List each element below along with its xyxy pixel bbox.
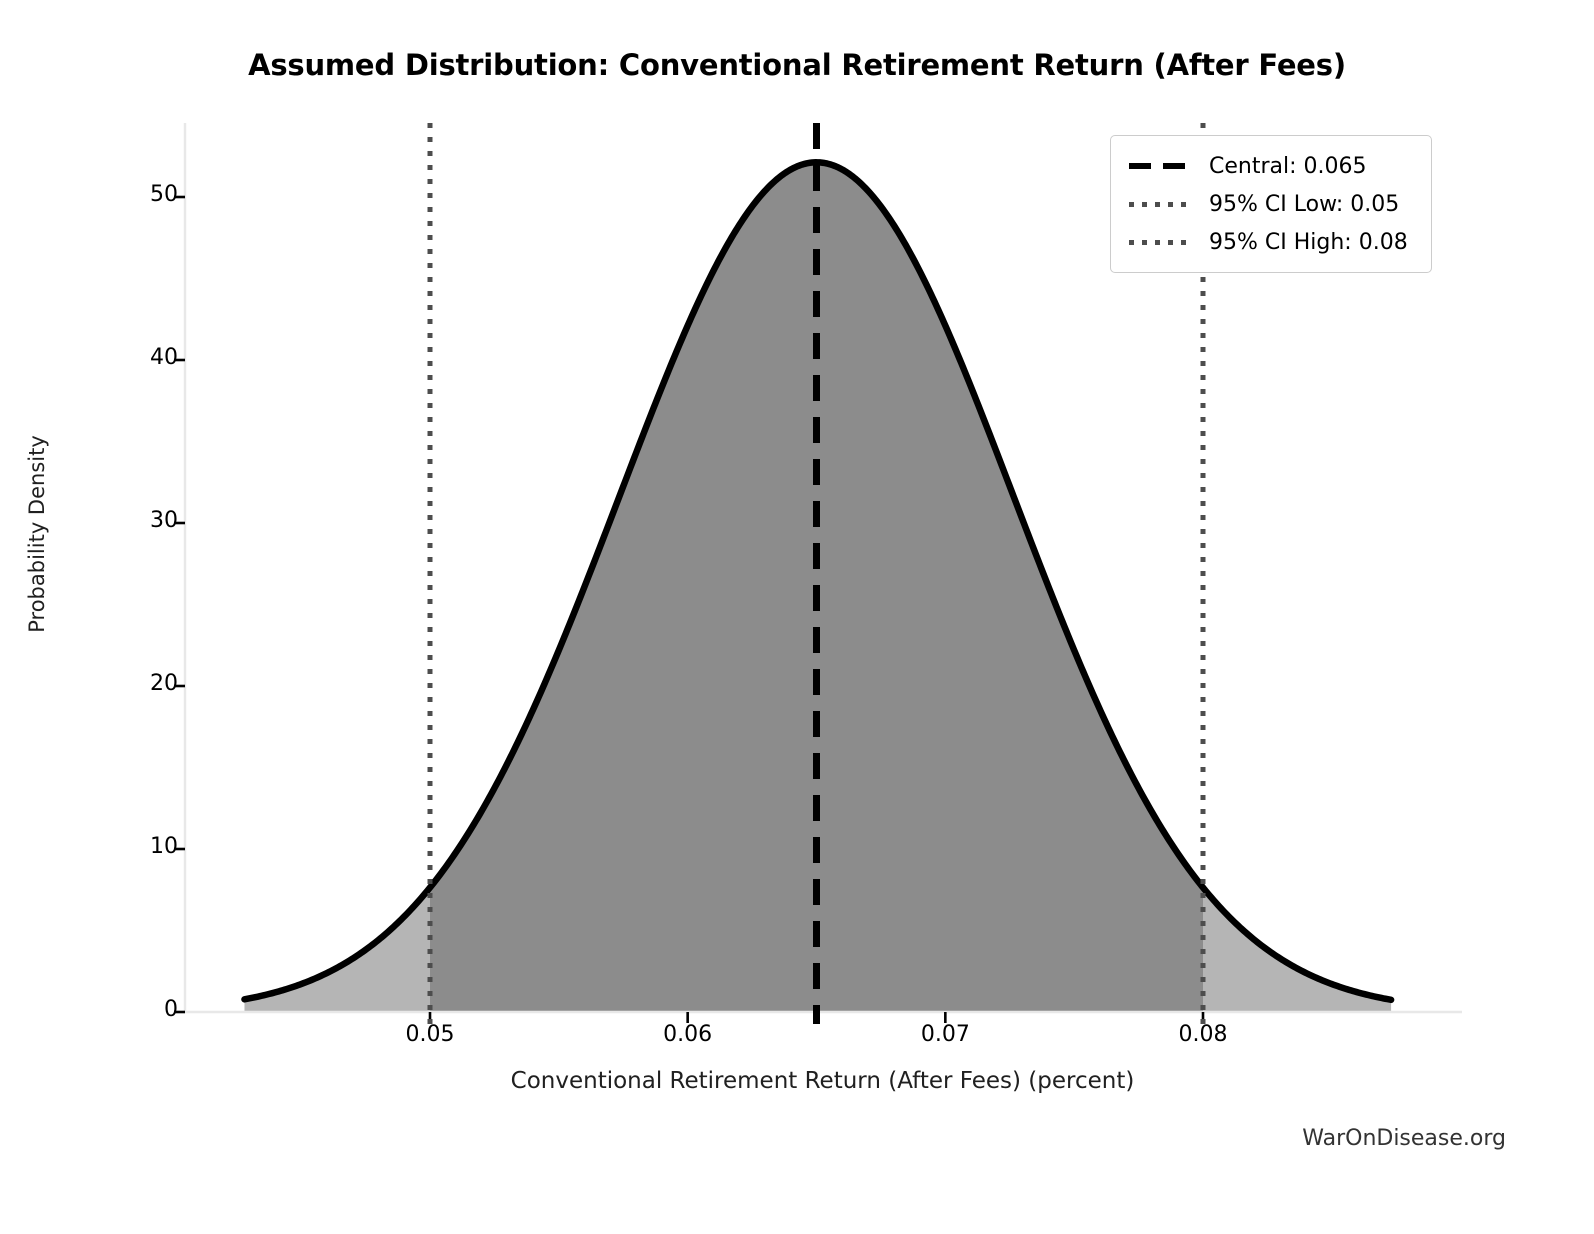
- y-tick-label: 20: [58, 671, 178, 696]
- y-axis-label: Probability Density: [25, 404, 49, 664]
- y-tick-label: 30: [58, 508, 178, 533]
- chart-legend: Central: 0.065 95% CI Low: 0.05 95% CI H…: [1110, 135, 1432, 273]
- x-tick-label: 0.08: [1133, 1022, 1273, 1047]
- x-axis-label: Conventional Retirement Return (After Fe…: [185, 1068, 1460, 1094]
- x-tick-label: 0.06: [618, 1022, 758, 1047]
- legend-item-ci-low: 95% CI Low: 0.05: [1111, 185, 1431, 223]
- y-tick-label: 40: [58, 345, 178, 370]
- legend-item-central: Central: 0.065: [1111, 147, 1431, 185]
- y-tick-label: 0: [58, 997, 178, 1022]
- legend-swatch-dotted-low-icon: [1127, 194, 1193, 214]
- chart-figure: Assumed Distribution: Conventional Retir…: [0, 0, 1594, 1234]
- x-tick-label: 0.07: [875, 1022, 1015, 1047]
- x-tick-label: 0.05: [360, 1022, 500, 1047]
- legend-item-ci-high: 95% CI High: 0.08: [1111, 223, 1431, 261]
- legend-swatch-dashed-icon: [1127, 156, 1193, 176]
- y-tick-label: 10: [58, 834, 178, 859]
- legend-label-ci-low: 95% CI Low: 0.05: [1209, 192, 1399, 217]
- legend-label-ci-high: 95% CI High: 0.08: [1209, 230, 1408, 255]
- y-tick-marks: [174, 197, 185, 1012]
- legend-label-central: Central: 0.065: [1209, 154, 1367, 179]
- y-tick-label: 50: [58, 182, 178, 207]
- legend-swatch-dotted-high-icon: [1127, 232, 1193, 252]
- watermark-footer: WarOnDisease.org: [1302, 1126, 1506, 1151]
